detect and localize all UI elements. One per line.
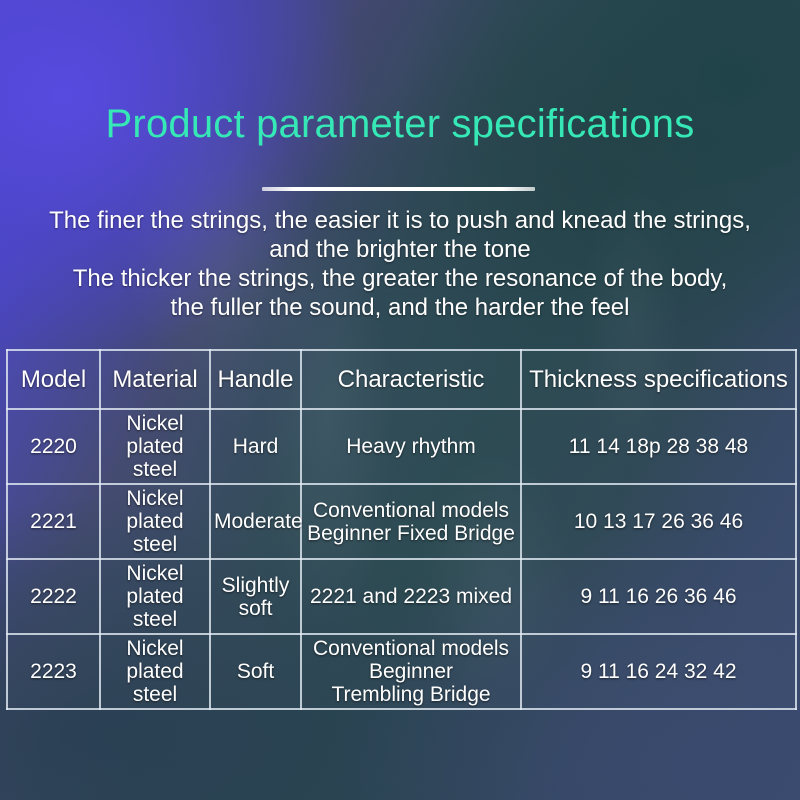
cell-model-2220: 2220	[7, 409, 100, 484]
characteristic-line-2: Beginner Fixed Bridge	[307, 522, 515, 545]
material-line-1: Nickel	[126, 487, 183, 510]
material-line-2: plated steel	[126, 585, 183, 631]
cell-handle-2220: Hard	[210, 409, 301, 484]
table-row: 2220 Nickel plated steel Hard Heavy rhyt…	[7, 409, 796, 484]
column-header-characteristic: Characteristic	[301, 350, 521, 409]
cell-material-2221: Nickel plated steel	[100, 484, 210, 559]
cell-characteristic-2221: Conventional models Beginner Fixed Bridg…	[301, 484, 521, 559]
table-row: 2221 Nickel plated steel Moderate Conven…	[7, 484, 796, 559]
cell-material-2223: Nickel plated steel	[100, 634, 210, 709]
column-header-thickness: Thickness specifications	[521, 350, 796, 409]
cell-thickness-2221: 10 13 17 26 36 46	[521, 484, 796, 559]
poster-content: Product parameter specifications The fin…	[0, 0, 800, 800]
material-line-2: plated steel	[126, 660, 183, 706]
characteristic-line-3: Trembling Bridge	[331, 683, 490, 706]
material-line-1: Nickel	[126, 562, 183, 585]
column-header-model: Model	[7, 350, 100, 409]
page-title: Product parameter specifications	[0, 101, 800, 147]
column-header-handle: Handle	[210, 350, 301, 409]
characteristic-line-1: Conventional models	[313, 637, 509, 660]
cell-thickness-2220: 11 14 18p 28 38 48	[521, 409, 796, 484]
table-row: 2223 Nickel plated steel Soft Convention…	[7, 634, 796, 709]
subtitle-line-4: the fuller the sound, and the harder the…	[0, 293, 800, 322]
title-divider-rule	[262, 187, 535, 191]
material-line-2: plated steel	[126, 510, 183, 556]
material-line-1: Nickel	[126, 412, 183, 435]
cell-material-2220: Nickel plated steel	[100, 409, 210, 484]
handle-line-2: soft	[239, 597, 273, 620]
cell-characteristic-2222: 2221 and 2223 mixed	[301, 559, 521, 634]
cell-model-2221: 2221	[7, 484, 100, 559]
characteristic-line-2: Beginner	[369, 660, 453, 683]
subtitle-block: The finer the strings, the easier it is …	[0, 206, 800, 322]
cell-material-2222: Nickel plated steel	[100, 559, 210, 634]
cell-handle-2222: Slightly soft	[210, 559, 301, 634]
cell-model-2222: 2222	[7, 559, 100, 634]
cell-handle-2223: Soft	[210, 634, 301, 709]
characteristic-line-1: Conventional models	[313, 499, 509, 522]
subtitle-line-3: The thicker the strings, the greater the…	[0, 264, 800, 293]
handle-line-1: Slightly	[222, 574, 290, 597]
material-line-1: Nickel	[126, 637, 183, 660]
cell-characteristic-2220: Heavy rhythm	[301, 409, 521, 484]
cell-model-2223: 2223	[7, 634, 100, 709]
table-row: 2222 Nickel plated steel Slightly soft 2…	[7, 559, 796, 634]
cell-characteristic-2223: Conventional models Beginner Trembling B…	[301, 634, 521, 709]
material-line-2: plated steel	[126, 435, 183, 481]
product-spec-poster: Product parameter specifications The fin…	[0, 0, 800, 800]
subtitle-line-1: The finer the strings, the easier it is …	[0, 206, 800, 235]
column-header-material: Material	[100, 350, 210, 409]
cell-thickness-2222: 9 11 16 26 36 46	[521, 559, 796, 634]
table-header-row: Model Material Handle Characteristic Thi…	[7, 350, 796, 409]
specifications-table: Model Material Handle Characteristic Thi…	[6, 349, 797, 710]
subtitle-line-2: and the brighter the tone	[0, 235, 800, 264]
cell-handle-2221: Moderate	[210, 484, 301, 559]
cell-thickness-2223: 9 11 16 24 32 42	[521, 634, 796, 709]
